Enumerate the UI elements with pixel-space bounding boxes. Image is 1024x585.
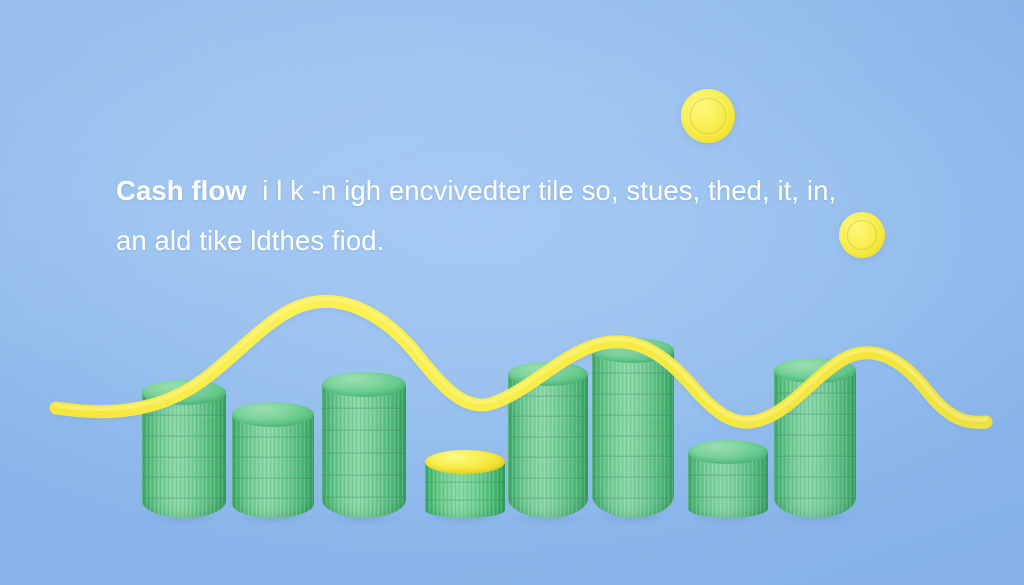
coin-stack-4 bbox=[425, 450, 505, 518]
headline-lead: Cash flow bbox=[116, 175, 247, 206]
coin-stack-top bbox=[322, 372, 406, 397]
coin-stack-top bbox=[688, 440, 768, 464]
coin-stack-gold-top bbox=[425, 450, 505, 474]
coin-stack-7 bbox=[688, 440, 768, 518]
coin-stack-top bbox=[142, 380, 226, 405]
page-title: Cash flow i l k -n igh encvivedter tile … bbox=[116, 166, 856, 266]
coin-stack-3 bbox=[322, 372, 406, 518]
coin-stack-body bbox=[508, 374, 588, 518]
coin-stack-body bbox=[774, 371, 856, 518]
coin-stack-6 bbox=[592, 338, 674, 518]
coin-stack-top bbox=[232, 402, 314, 427]
floating-coin-top-right bbox=[681, 89, 735, 143]
coin-stack-body bbox=[592, 351, 674, 518]
coin-stack-body bbox=[322, 385, 406, 518]
coin-stack-top bbox=[508, 362, 588, 386]
coin-stack-top bbox=[592, 338, 674, 363]
coin-stack-body bbox=[232, 415, 314, 518]
coin-stack-1 bbox=[142, 380, 226, 518]
coin-stack-8 bbox=[774, 358, 856, 518]
illustration-canvas: Cash flow i l k -n igh encvivedter tile … bbox=[0, 0, 1024, 585]
coin-stack-body bbox=[142, 393, 226, 518]
coin-stack-5 bbox=[508, 362, 588, 518]
coin-stack-2 bbox=[232, 402, 314, 518]
coin-stack-top bbox=[774, 358, 856, 383]
